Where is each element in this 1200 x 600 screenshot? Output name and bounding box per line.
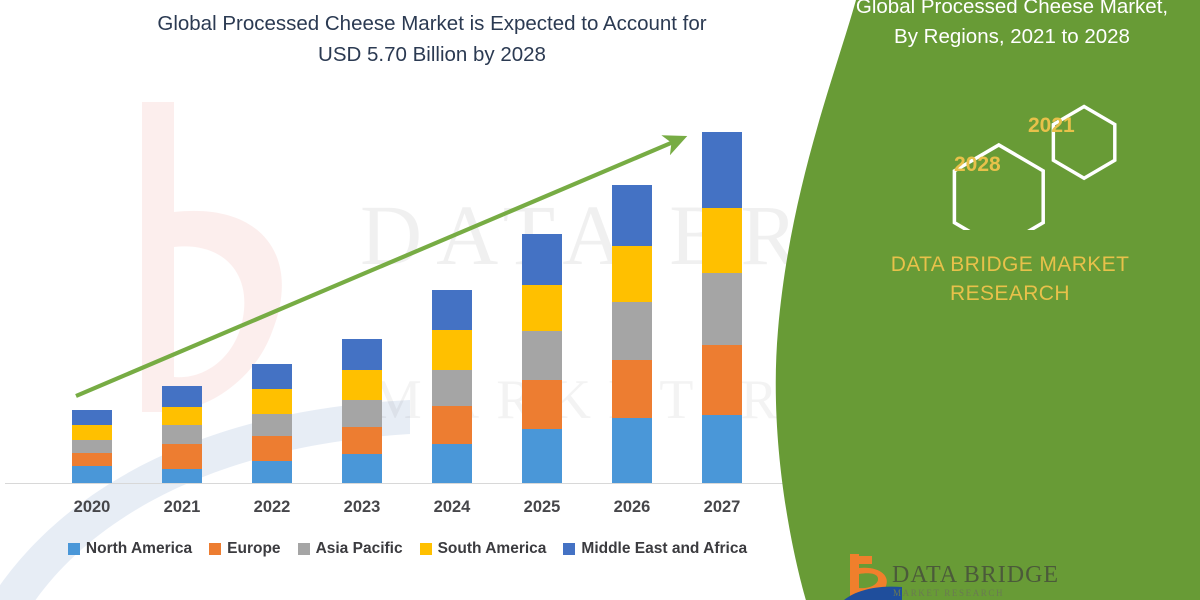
legend-swatch-icon xyxy=(209,543,221,555)
x-axis-tick-2020: 2020 xyxy=(52,498,132,517)
bar-segment[interactable] xyxy=(432,290,472,330)
bar-2026[interactable] xyxy=(612,185,652,483)
x-axis-labels: 20202021202220232024202520262027 xyxy=(0,498,830,524)
legend-swatch-icon xyxy=(420,543,432,555)
bar-segment[interactable] xyxy=(612,185,652,246)
bar-segment[interactable] xyxy=(342,339,382,370)
bar-segment[interactable] xyxy=(702,208,742,273)
hexagon-outlines-icon xyxy=(910,95,1120,230)
bar-segment[interactable] xyxy=(702,345,742,414)
bar-segment[interactable] xyxy=(432,406,472,444)
legend-item[interactable]: South America xyxy=(420,540,547,558)
chart-legend: North AmericaEuropeAsia PacificSouth Ame… xyxy=(0,540,815,558)
bar-segment[interactable] xyxy=(702,415,742,483)
x-axis-tick-2023: 2023 xyxy=(322,498,402,517)
x-axis-tick-2025: 2025 xyxy=(502,498,582,517)
infographic-page: DATA BRIDGE MARKET RESEARCH Global Proce… xyxy=(0,0,1200,600)
legend-item[interactable]: Middle East and Africa xyxy=(563,540,747,558)
bar-2024[interactable] xyxy=(432,290,472,483)
bar-segment[interactable] xyxy=(522,380,562,429)
legend-swatch-icon xyxy=(298,543,310,555)
legend-label: Asia Pacific xyxy=(316,540,403,558)
bar-2025[interactable] xyxy=(522,234,562,483)
bar-segment[interactable] xyxy=(432,444,472,483)
legend-label: North America xyxy=(86,540,192,558)
legend-item[interactable]: Asia Pacific xyxy=(298,540,403,558)
x-axis-tick-2026: 2026 xyxy=(592,498,672,517)
bar-segment[interactable] xyxy=(252,364,292,389)
bar-segment[interactable] xyxy=(252,461,292,483)
green-panel-title: Global Processed Cheese Market, By Regio… xyxy=(832,0,1192,52)
legend-label: Middle East and Africa xyxy=(581,540,747,558)
bar-segment[interactable] xyxy=(522,429,562,483)
bar-2022[interactable] xyxy=(252,364,292,483)
green-panel-title-line-2: By Regions, 2021 to 2028 xyxy=(832,22,1192,52)
hexagon-label-2028: 2028 xyxy=(954,153,1001,177)
bar-segment[interactable] xyxy=(702,273,742,346)
legend-label: Europe xyxy=(227,540,280,558)
bar-segment[interactable] xyxy=(162,386,202,407)
bar-segment[interactable] xyxy=(162,469,202,483)
x-axis-tick-2021: 2021 xyxy=(142,498,222,517)
legend-swatch-icon xyxy=(563,543,575,555)
bar-segment[interactable] xyxy=(72,466,112,483)
bar-segment[interactable] xyxy=(702,132,742,208)
brand-name-line-2: RESEARCH xyxy=(830,279,1190,308)
bar-segment[interactable] xyxy=(252,436,292,461)
chart-baseline xyxy=(5,483,795,484)
logo-name: DATA BRIDGE xyxy=(892,562,1059,589)
bar-segment[interactable] xyxy=(342,427,382,454)
bar-segment[interactable] xyxy=(72,440,112,453)
bar-2020[interactable] xyxy=(72,410,112,483)
bar-segment[interactable] xyxy=(342,454,382,483)
bar-segment[interactable] xyxy=(342,370,382,401)
bar-segment[interactable] xyxy=(522,285,562,332)
company-logo: DATA BRIDGE MARKET RESEARCH xyxy=(842,552,1092,600)
bar-segment[interactable] xyxy=(612,246,652,302)
x-axis-tick-2022: 2022 xyxy=(232,498,312,517)
bar-segment[interactable] xyxy=(162,444,202,469)
bar-segment[interactable] xyxy=(432,370,472,407)
bar-segment[interactable] xyxy=(612,360,652,418)
bar-segment[interactable] xyxy=(72,425,112,439)
bar-segment[interactable] xyxy=(522,234,562,284)
stacked-bar-chart: 20202021202220232024202520262027 North A… xyxy=(0,0,830,600)
bar-2023[interactable] xyxy=(342,339,382,483)
brand-name-line-1: DATA BRIDGE MARKET xyxy=(830,250,1190,279)
bar-segment[interactable] xyxy=(72,410,112,425)
bar-segment[interactable] xyxy=(612,302,652,360)
bar-segment[interactable] xyxy=(252,414,292,437)
x-axis-tick-2024: 2024 xyxy=(412,498,492,517)
bar-segment[interactable] xyxy=(522,331,562,379)
bar-2027[interactable] xyxy=(702,132,742,483)
bar-segment[interactable] xyxy=(612,418,652,483)
bar-2021[interactable] xyxy=(162,386,202,483)
legend-item[interactable]: Europe xyxy=(209,540,280,558)
bar-segment[interactable] xyxy=(342,400,382,427)
legend-label: South America xyxy=(438,540,547,558)
bar-segment[interactable] xyxy=(432,330,472,369)
legend-swatch-icon xyxy=(68,543,80,555)
bar-segment[interactable] xyxy=(162,425,202,444)
hexagon-label-2021: 2021 xyxy=(1028,114,1075,138)
logo-tagline: MARKET RESEARCH xyxy=(893,588,1004,598)
hexagon-group: 2028 2021 xyxy=(910,95,1120,230)
bar-segment[interactable] xyxy=(162,407,202,425)
bar-segment[interactable] xyxy=(252,389,292,414)
right-green-panel: R Global Processed Cheese Market, By Reg… xyxy=(760,0,1200,600)
x-axis-tick-2027: 2027 xyxy=(682,498,762,517)
legend-item[interactable]: North America xyxy=(68,540,192,558)
brand-name: DATA BRIDGE MARKET RESEARCH xyxy=(830,250,1190,308)
bar-segment[interactable] xyxy=(72,453,112,466)
green-panel-title-line-1: Global Processed Cheese Market, xyxy=(832,0,1192,22)
